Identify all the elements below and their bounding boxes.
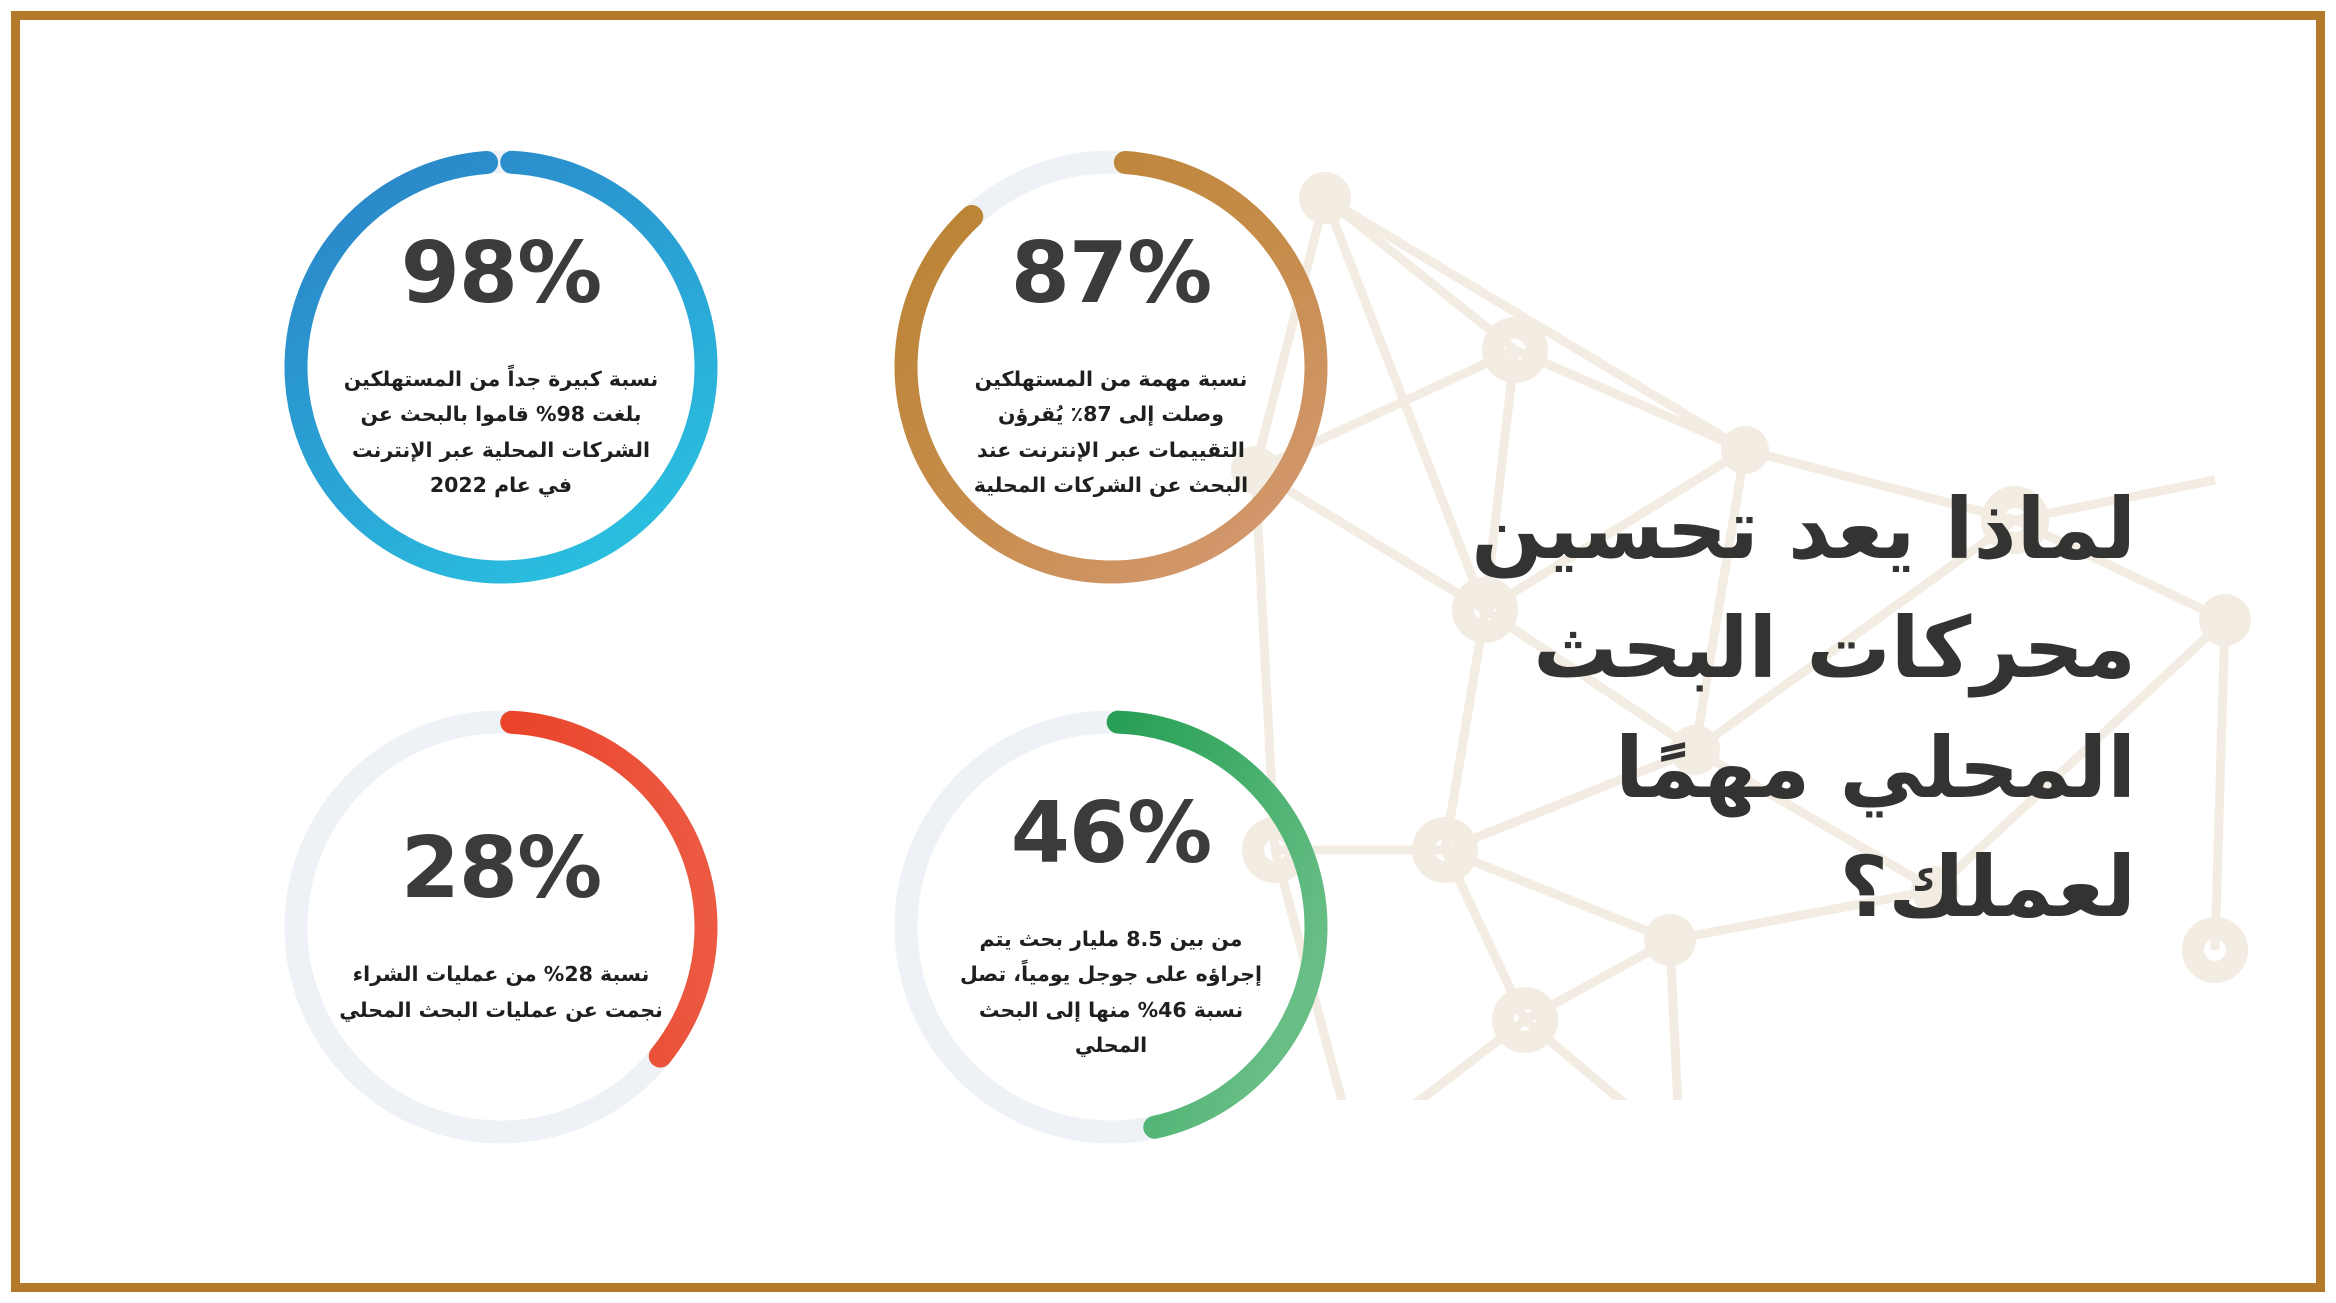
donut-content-28: 28% نسبة 28% من عمليات الشراء نجمت عن عم… — [266, 692, 736, 1162]
donut-value-87: 87% — [1011, 231, 1211, 316]
donut-value-28: 28% — [401, 826, 601, 911]
donut-content-87: 87% نسبة مهمة من المستهلكين وصلت إلى 87٪… — [876, 132, 1346, 602]
donut-content-46: 46% من بين 8.5 مليار بحث يتم إجراؤه على … — [876, 692, 1346, 1162]
donut-value-46: 46% — [1011, 791, 1211, 876]
donut-content-98: 98% نسبة كبيرة جداً من المستهلكين بلغت 9… — [266, 132, 736, 602]
page-title: لماذا يعد تحسين محركات البحث المحلي مهمً… — [1306, 470, 2136, 947]
stat-donut-98: 98% نسبة كبيرة جداً من المستهلكين بلغت 9… — [266, 132, 736, 602]
stat-donut-grid: 87% نسبة مهمة من المستهلكين وصلت إلى 87٪… — [236, 132, 1346, 1192]
donut-caption-46: من بين 8.5 مليار بحث يتم إجراؤه على جوجل… — [948, 922, 1274, 1063]
stat-donut-87: 87% نسبة مهمة من المستهلكين وصلت إلى 87٪… — [876, 132, 1346, 602]
donut-caption-28: نسبة 28% من عمليات الشراء نجمت عن عمليات… — [338, 957, 664, 1028]
donut-value-98: 98% — [401, 231, 601, 316]
donut-caption-87: نسبة مهمة من المستهلكين وصلت إلى 87٪ يُق… — [948, 362, 1274, 503]
donut-caption-98: نسبة كبيرة جداً من المستهلكين بلغت 98% ق… — [338, 362, 664, 503]
stat-donut-46: 46% من بين 8.5 مليار بحث يتم إجراؤه على … — [876, 692, 1346, 1162]
infographic-slide: 87% نسبة مهمة من المستهلكين وصلت إلى 87٪… — [0, 0, 2336, 1303]
stat-donut-28: 28% نسبة 28% من عمليات الشراء نجمت عن عم… — [266, 692, 736, 1162]
